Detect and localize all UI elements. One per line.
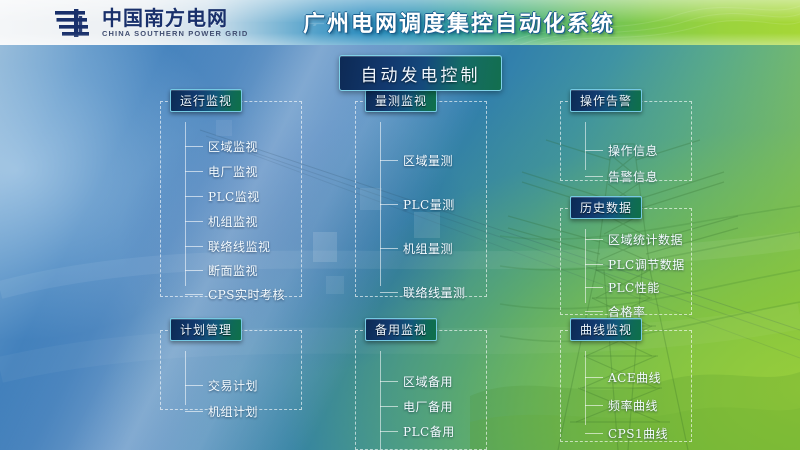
page-title-plate: 自动发电控制 [339, 55, 502, 91]
menu-item[interactable]: 联络线监视 [185, 238, 271, 254]
panel-plan-management: 计划管理 交易计划 机组计划 [160, 330, 302, 410]
decor-square [313, 232, 337, 262]
menu-item-label: PLC性能 [608, 279, 660, 296]
tree-connector [380, 406, 398, 407]
tree-connector [185, 385, 203, 386]
tree-connector [380, 204, 398, 205]
menu-item-label: 断面监视 [208, 262, 258, 279]
menu-item[interactable]: PLC备用 [380, 423, 455, 439]
tree-measurement-monitoring: 区域量测 PLC量测 机组量测 联络线量测 [356, 102, 486, 296]
tree-connector [185, 221, 203, 222]
menu-item[interactable]: 断面监视 [185, 262, 258, 278]
menu-item[interactable]: 区域统计数据 [585, 231, 683, 247]
tree-connector [585, 377, 603, 378]
menu-item[interactable]: 区域监视 [185, 138, 258, 154]
menu-item[interactable]: 合格率 [585, 303, 646, 319]
menu-item-label: 区域监视 [208, 138, 258, 155]
panel-operation-alarm: 操作告警 操作信息 告警信息 [560, 101, 692, 181]
tree-connector [585, 176, 603, 177]
panel-curve-monitoring: 曲线监视 ACE曲线 频率曲线 CPS1曲线 [560, 330, 692, 442]
menu-item-label: 机组监视 [208, 213, 258, 230]
menu-item[interactable]: PLC性能 [585, 279, 660, 295]
menu-item-label: PLC量测 [403, 196, 455, 213]
tree-connector [585, 239, 603, 240]
tree-connector [185, 270, 203, 271]
menu-item[interactable]: 电厂监视 [185, 163, 258, 179]
application-screen: 中国南方电网 CHINA SOUTHERN POWER GRID 广州电网调度集… [0, 0, 800, 450]
decor-square [326, 276, 344, 294]
tree-connector [585, 264, 603, 265]
menu-item[interactable]: 交易计划 [185, 377, 258, 393]
menu-item[interactable]: PLC量测 [380, 196, 455, 212]
menu-item[interactable]: 频率曲线 [585, 397, 658, 413]
tree-operation-alarm: 操作信息 告警信息 [561, 102, 691, 180]
menu-item-label: 区域统计数据 [608, 231, 683, 248]
tree-operation-monitoring: 区域监视 电厂监视 PLC监视 机组监视 联络线监视 断面监视 [161, 102, 301, 296]
menu-item[interactable]: 电厂备用 [380, 398, 453, 414]
tree-reserve-monitoring: 区域备用 电厂备用 PLC备用 机组备用 [356, 331, 486, 449]
logo-english-name: CHINA SOUTHERN POWER GRID [102, 29, 248, 39]
menu-item-label: CPS1曲线 [608, 425, 668, 442]
menu-item[interactable]: 区域量测 [380, 152, 453, 168]
menu-item[interactable]: 机组量测 [380, 240, 453, 256]
menu-item-label: 电厂监视 [208, 163, 258, 180]
menu-item[interactable]: CPS1曲线 [585, 425, 668, 441]
tree-connector [380, 248, 398, 249]
tree-connector [585, 287, 603, 288]
menu-item-label: 联络线量测 [403, 284, 466, 301]
tree-connector [185, 411, 203, 412]
menu-item-label: PLC备用 [403, 423, 455, 440]
menu-item[interactable]: PLC调节数据 [585, 256, 685, 272]
tree-connector [185, 294, 203, 295]
panel-operation-monitoring: 运行监视 区域监视 电厂监视 PLC监视 机组监视 联络线监视 [160, 101, 302, 297]
menu-item[interactable]: 操作信息 [585, 142, 658, 158]
tree-connector [380, 431, 398, 432]
menu-item-label: 联络线监视 [208, 238, 271, 255]
menu-item-label: 频率曲线 [608, 397, 658, 414]
menu-item[interactable]: 联络线量测 [380, 284, 466, 300]
tree-connector [585, 405, 603, 406]
menu-item-label: 交易计划 [208, 377, 258, 394]
power-grid-logo-icon [55, 8, 95, 38]
tree-spine [585, 351, 586, 425]
tree-connector [185, 246, 203, 247]
tree-curve-monitoring: ACE曲线 频率曲线 CPS1曲线 [561, 331, 691, 441]
tree-connector [585, 150, 603, 151]
tree-connector [380, 292, 398, 293]
menu-item-label: PLC调节数据 [608, 256, 685, 273]
panel-historical-data: 历史数据 区域统计数据 PLC调节数据 PLC性能 合格率 [560, 208, 692, 315]
menu-item-label: CPS实时考核 [208, 286, 285, 303]
menu-item[interactable]: 告警信息 [585, 168, 658, 184]
tree-historical-data: 区域统计数据 PLC调节数据 PLC性能 合格率 [561, 209, 691, 314]
menu-item-label: PLC监视 [208, 188, 260, 205]
panel-reserve-monitoring: 备用监视 区域备用 电厂备用 PLC备用 机组备用 [355, 330, 487, 450]
menu-item-label: 机组量测 [403, 240, 453, 257]
menu-item[interactable]: 机组计划 [185, 403, 258, 419]
page-title: 自动发电控制 [361, 61, 481, 86]
app-title: 广州电网调度集控自动化系统 [303, 6, 615, 38]
tree-connector [185, 171, 203, 172]
menu-item[interactable]: PLC监视 [185, 188, 260, 204]
menu-item-label: 区域量测 [403, 152, 453, 169]
tree-connector [185, 146, 203, 147]
logo-chinese-name: 中国南方电网 [102, 8, 248, 29]
tree-connector [585, 311, 603, 312]
menu-item-label: 操作信息 [608, 142, 658, 159]
tree-connector [585, 433, 603, 434]
brand-logo: 中国南方电网 CHINA SOUTHERN POWER GRID [55, 4, 248, 42]
menu-item[interactable]: CPS实时考核 [185, 286, 285, 302]
menu-item-label: 机组计划 [208, 403, 258, 420]
tree-connector [380, 381, 398, 382]
menu-item[interactable]: 区域备用 [380, 373, 453, 389]
tree-connector [185, 196, 203, 197]
menu-item[interactable]: ACE曲线 [585, 369, 661, 385]
menu-item-label: 区域备用 [403, 373, 453, 390]
tree-connector [380, 160, 398, 161]
menu-item-label: 电厂备用 [403, 398, 453, 415]
menu-item-label: ACE曲线 [608, 369, 661, 386]
menu-item-label: 告警信息 [608, 168, 658, 185]
app-header-bar: 中国南方电网 CHINA SOUTHERN POWER GRID 广州电网调度集… [0, 0, 800, 45]
menu-item[interactable]: 机组监视 [185, 213, 258, 229]
tree-plan-management: 交易计划 机组计划 [161, 331, 301, 409]
panel-measurement-monitoring: 量测监视 区域量测 PLC量测 机组量测 联络线量测 [355, 101, 487, 297]
menu-item-label: 合格率 [608, 303, 646, 320]
